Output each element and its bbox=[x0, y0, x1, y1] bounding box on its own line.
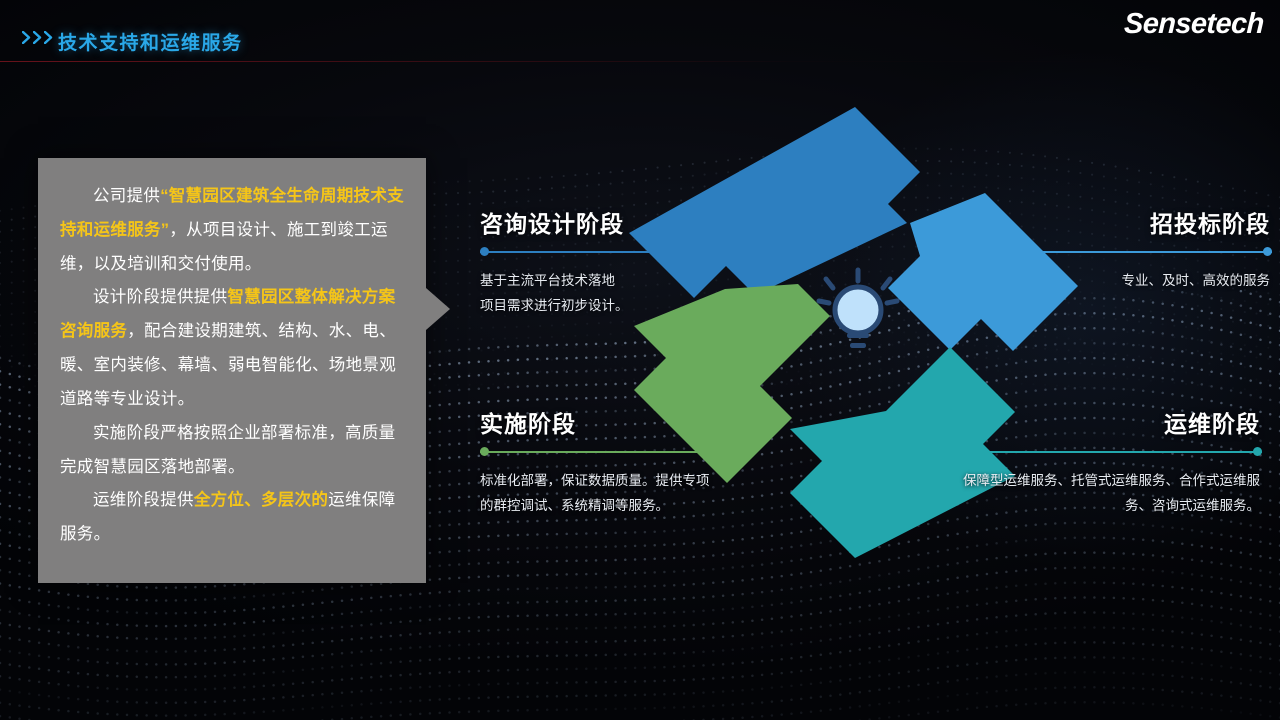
body-text: 运维阶段提供 bbox=[93, 491, 194, 509]
slide-root: 技术支持和运维服务 Sensetech 公司提供“智慧园区建筑全生命周期技术支持… bbox=[0, 0, 1280, 720]
quadrant-bidding-description: 专业、及时、高效的服务 bbox=[1040, 269, 1270, 294]
lightbulb-icon bbox=[816, 265, 900, 355]
quadrant-consult-title: 咨询设计阶段 bbox=[480, 205, 710, 239]
quadrant-implement: 实施阶段 标准化部署，保证数据质量。提供专项的群控调试、系统精调等服务。 bbox=[480, 405, 730, 519]
quadrant-implement-title: 实施阶段 bbox=[480, 405, 730, 439]
page-title: 技术支持和运维服务 bbox=[58, 28, 243, 55]
quadrant-consult-rule bbox=[480, 250, 730, 253]
quadrant-bidding: 招投标阶段 专业、及时、高效的服务 bbox=[1040, 205, 1270, 294]
triple-chevron-right-icon bbox=[22, 31, 53, 44]
description-paragraph: 设计阶段提供提供智慧园区整体解决方案咨询服务，配合建设期建筑、结构、水、电、暖、… bbox=[60, 281, 406, 416]
header-divider bbox=[0, 61, 1280, 62]
quadrant-ops-description: 保障型运维服务、托管式运维服务、合作式运维服务、咨询式运维服务。 bbox=[960, 469, 1260, 519]
quadrant-implement-rule bbox=[480, 450, 740, 453]
quadrant-ops-title: 运维阶段 bbox=[960, 405, 1260, 439]
quadrant-bidding-rule bbox=[1040, 250, 1272, 253]
description-paragraph: 运维阶段提供全方位、多层次的运维保障服务。 bbox=[60, 484, 406, 552]
quadrant-ops-rule bbox=[960, 450, 1262, 453]
quadrant-ops: 运维阶段 保障型运维服务、托管式运维服务、合作式运维服务、咨询式运维服务。 bbox=[960, 405, 1260, 519]
quadrant-bidding-title: 招投标阶段 bbox=[1040, 205, 1270, 239]
slide-header: 技术支持和运维服务 Sensetech bbox=[0, 0, 1280, 62]
description-panel-pointer bbox=[426, 288, 450, 330]
description-paragraph: 公司提供“智慧园区建筑全生命周期技术支持和运维服务”，从项目设计、施工到竣工运维… bbox=[60, 180, 406, 281]
body-text: 公司提供 bbox=[93, 187, 160, 205]
quadrant-implement-description: 标准化部署，保证数据质量。提供专项的群控调试、系统精调等服务。 bbox=[480, 469, 712, 519]
body-text: 设计阶段提供提供 bbox=[93, 288, 227, 306]
description-paragraph: 实施阶段严格按照企业部署标准，高质量完成智慧园区落地部署。 bbox=[60, 417, 406, 485]
body-text: 实施阶段严格按照企业部署标准，高质量完成智慧园区落地部署。 bbox=[60, 424, 395, 476]
brand-logo: Sensetech bbox=[1124, 8, 1265, 41]
description-panel-text: 公司提供“智慧园区建筑全生命周期技术支持和运维服务”，从项目设计、施工到竣工运维… bbox=[60, 180, 406, 552]
quadrant-consult-description: 基于主流平台技术落地项目需求进行初步设计。 bbox=[480, 269, 710, 319]
description-panel: 公司提供“智慧园区建筑全生命周期技术支持和运维服务”，从项目设计、施工到竣工运维… bbox=[38, 158, 426, 583]
highlighted-text: 全方位、多层次的 bbox=[194, 491, 328, 509]
quadrant-consult: 咨询设计阶段 基于主流平台技术落地项目需求进行初步设计。 bbox=[480, 205, 710, 319]
